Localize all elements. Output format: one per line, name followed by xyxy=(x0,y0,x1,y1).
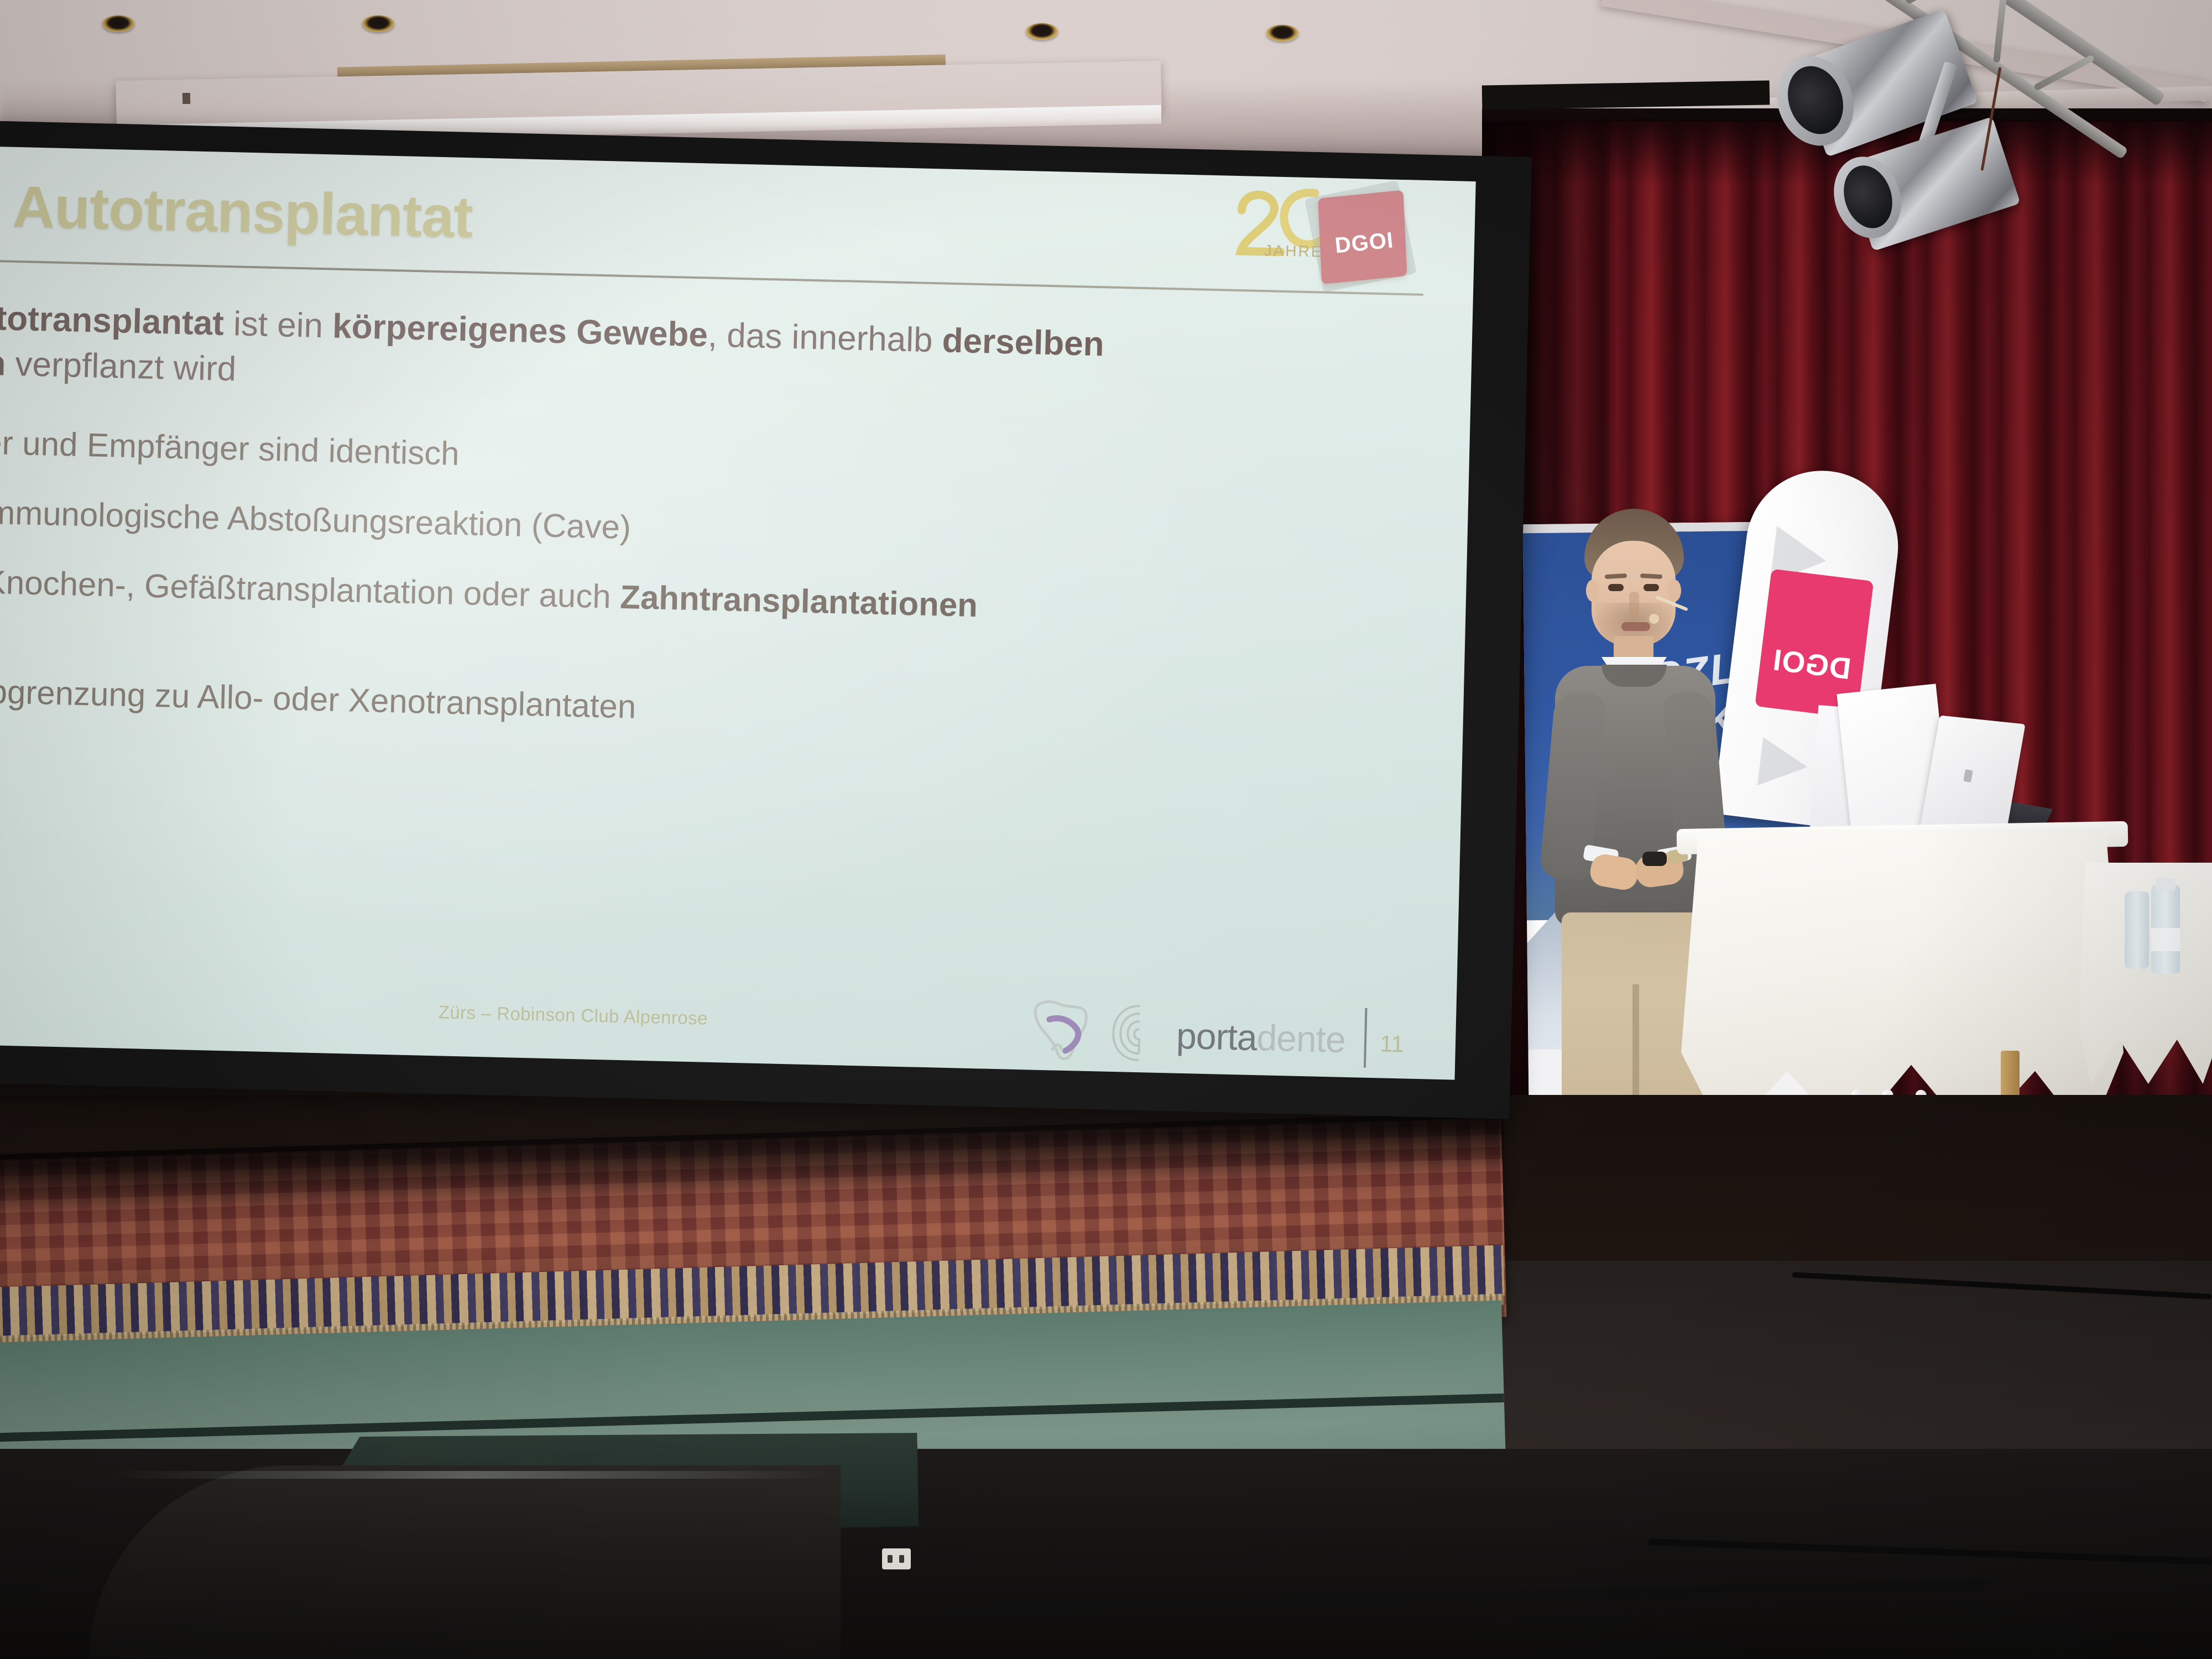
dgoi-anniversary-logo: JAHRE DGOI xyxy=(1230,181,1415,277)
footer-separator-bar xyxy=(1364,1008,1368,1068)
ceiling-downlight-icon xyxy=(1266,25,1298,41)
flag-arrow-icon xyxy=(1757,737,1811,791)
para-bold-2: körpereigenes Gewebe xyxy=(332,307,708,354)
slide-bullet-3: Haut-, Knochen-, Gefäßtransplantation od… xyxy=(0,563,1378,632)
headset-mic-capsule xyxy=(1649,614,1659,624)
title-divider-rule xyxy=(0,257,1423,295)
screen-valance-tab xyxy=(182,93,190,104)
tooth-icon xyxy=(1026,997,1093,1065)
presentation-clicker-remote xyxy=(1642,852,1667,866)
para-text-3: , das innerhalb xyxy=(707,316,942,359)
portadente-brand-dark: porta xyxy=(1176,1015,1257,1058)
slide-title: Das Autotransplantat xyxy=(0,171,473,252)
presentation-slide: Das Autotransplantat JAHRE DGOI Ein Auto… xyxy=(0,145,1476,1079)
fingerprint-icon xyxy=(1109,1002,1170,1064)
slide-bullet-2: Keine immunologische Abstoßungsreaktion … xyxy=(0,493,1379,562)
ceiling-downlight-icon xyxy=(1026,23,1058,40)
stage-step-highlight xyxy=(111,1471,830,1479)
presenter-mouth xyxy=(1621,622,1650,631)
presenter-eye-right xyxy=(1644,584,1659,591)
black-truss-bar xyxy=(1482,80,1770,109)
presenter-eye-left xyxy=(1608,584,1624,591)
water-bottle-cap xyxy=(2156,878,2176,890)
presenter-nose xyxy=(1629,592,1639,617)
ceiling-downlight-icon xyxy=(102,15,134,32)
presenter-ear-right xyxy=(1668,580,1681,602)
stage-curved-step xyxy=(88,1465,841,1659)
slide-body: Ein Autotransplantat ist ein körpereigen… xyxy=(0,294,1384,778)
photo-scene: HERZLICH WILLKOMMEN S A Powered by DGOI … xyxy=(0,0,2212,1659)
slide-footer-venue: Zürs – Robinson Club Alpenrose xyxy=(438,1001,708,1029)
portadente-brand-light: dente xyxy=(1256,1017,1346,1060)
slide-footer: .26 Zürs – Robinson Club Alpenrose po xyxy=(0,962,1457,1065)
para-text-2: ist ein xyxy=(223,305,333,346)
presenter-ear-left xyxy=(1586,580,1599,602)
projection-screen-surface: Das Autotransplantat JAHRE DGOI Ein Auto… xyxy=(0,145,1476,1079)
ceiling-downlight-icon xyxy=(362,15,394,32)
portadente-logo: portadente 11 xyxy=(1026,997,1415,1072)
bullet-2-text: Keine immunologische Abstoßungsreaktion … xyxy=(0,491,632,546)
bullet-3-bold-tail: Zahntransplantationen xyxy=(620,578,978,624)
water-bottle-label xyxy=(2151,928,2180,951)
para-text-4: verpflanzt wird xyxy=(6,345,237,388)
bullet-3-text: Haut-, Knochen-, Gefäßtransplantation od… xyxy=(0,561,620,615)
water-bottle-secondary xyxy=(2125,891,2149,969)
para-bold-1: Autotransplantat xyxy=(0,298,225,343)
power-outlet-icon xyxy=(882,1548,911,1569)
portadente-wordmark: portadente xyxy=(1176,1015,1345,1061)
para-bold-3: derselben xyxy=(942,321,1104,363)
slide-page-number: 11 xyxy=(1380,1030,1405,1057)
